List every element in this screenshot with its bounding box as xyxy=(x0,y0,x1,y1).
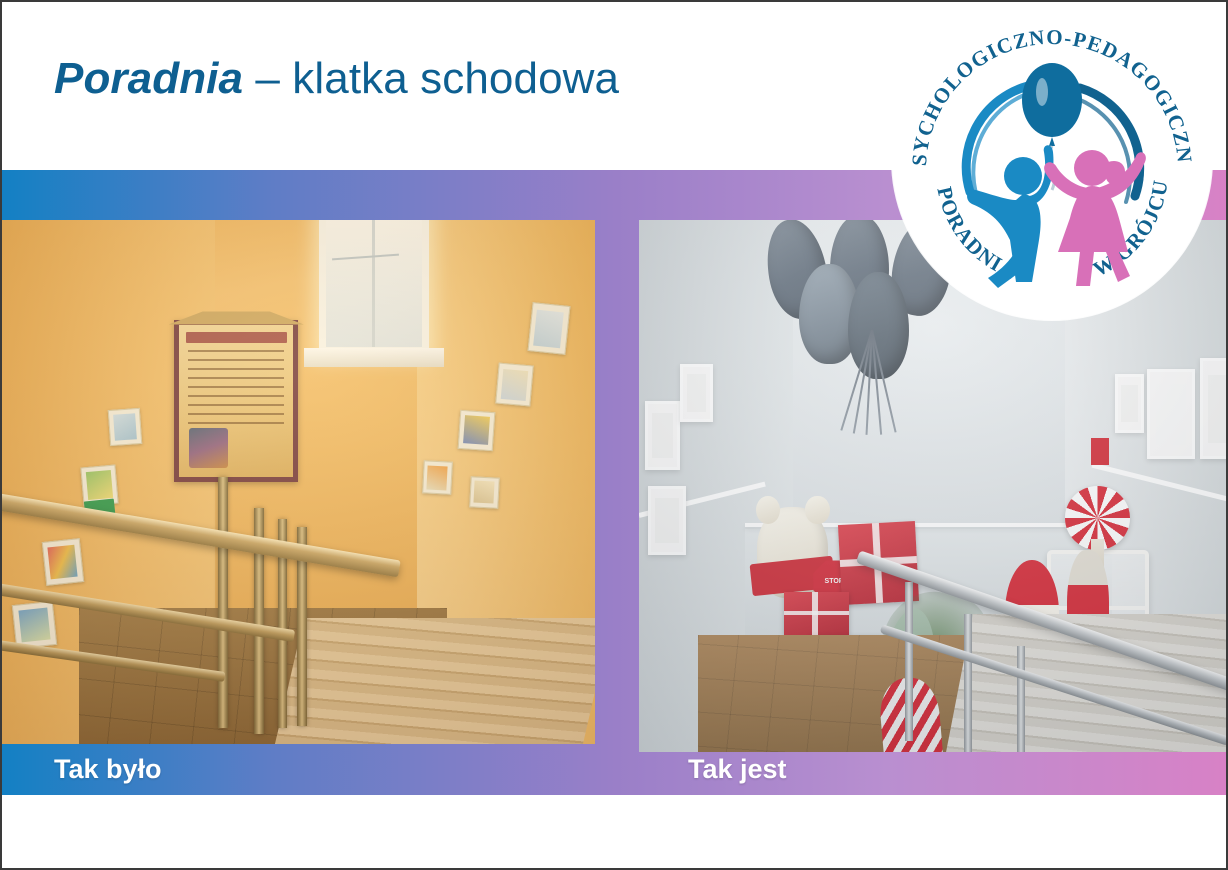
logo-graphic: PSYCHOLOGICZNO-PEDAGOGICZNA PORADNIA W G… xyxy=(892,0,1212,320)
childrens-drawing xyxy=(108,408,142,446)
photo-before xyxy=(2,220,595,744)
wall-picture-frame xyxy=(645,401,680,470)
window-sill xyxy=(304,348,443,366)
old-stairs xyxy=(275,618,595,744)
gift-box xyxy=(784,592,849,635)
railing-post xyxy=(218,477,227,729)
page-title-rest: – klatka schodowa xyxy=(243,54,619,103)
wall-picture-frame xyxy=(1115,374,1145,433)
childrens-drawing xyxy=(12,601,57,649)
rights-poster xyxy=(174,320,299,482)
railing-post xyxy=(905,582,913,742)
childrens-drawing xyxy=(422,460,452,495)
childrens-drawing xyxy=(495,363,533,407)
presentation-slide: Poradnia – klatka schodowa xyxy=(0,0,1228,870)
page-title: Poradnia – klatka schodowa xyxy=(54,54,619,104)
wall-picture-frame xyxy=(680,364,713,423)
poster-text-lines xyxy=(188,350,284,423)
poradnia-logo: PSYCHOLOGICZNO-PEDAGOGICZNA PORADNIA W G… xyxy=(892,0,1212,320)
poster-title-band xyxy=(186,332,287,343)
railing-post xyxy=(1017,646,1025,752)
page-title-emphasis: Poradnia xyxy=(54,54,243,103)
wall-picture-frame xyxy=(1200,358,1228,459)
childrens-drawing xyxy=(527,302,570,355)
poster-illustration xyxy=(189,428,228,468)
wall-picture-frame xyxy=(1147,369,1194,459)
childrens-drawing xyxy=(41,538,83,586)
caption-before: Tak było xyxy=(54,754,162,785)
caption-after: Tak jest xyxy=(688,754,787,785)
childrens-drawing xyxy=(457,410,494,451)
childrens-drawing xyxy=(470,476,500,508)
photo-after: STOP xyxy=(639,220,1228,752)
window xyxy=(319,220,429,354)
wall-picture-frame xyxy=(648,486,686,555)
railing-post xyxy=(964,614,972,752)
exit-sign xyxy=(1091,438,1109,465)
